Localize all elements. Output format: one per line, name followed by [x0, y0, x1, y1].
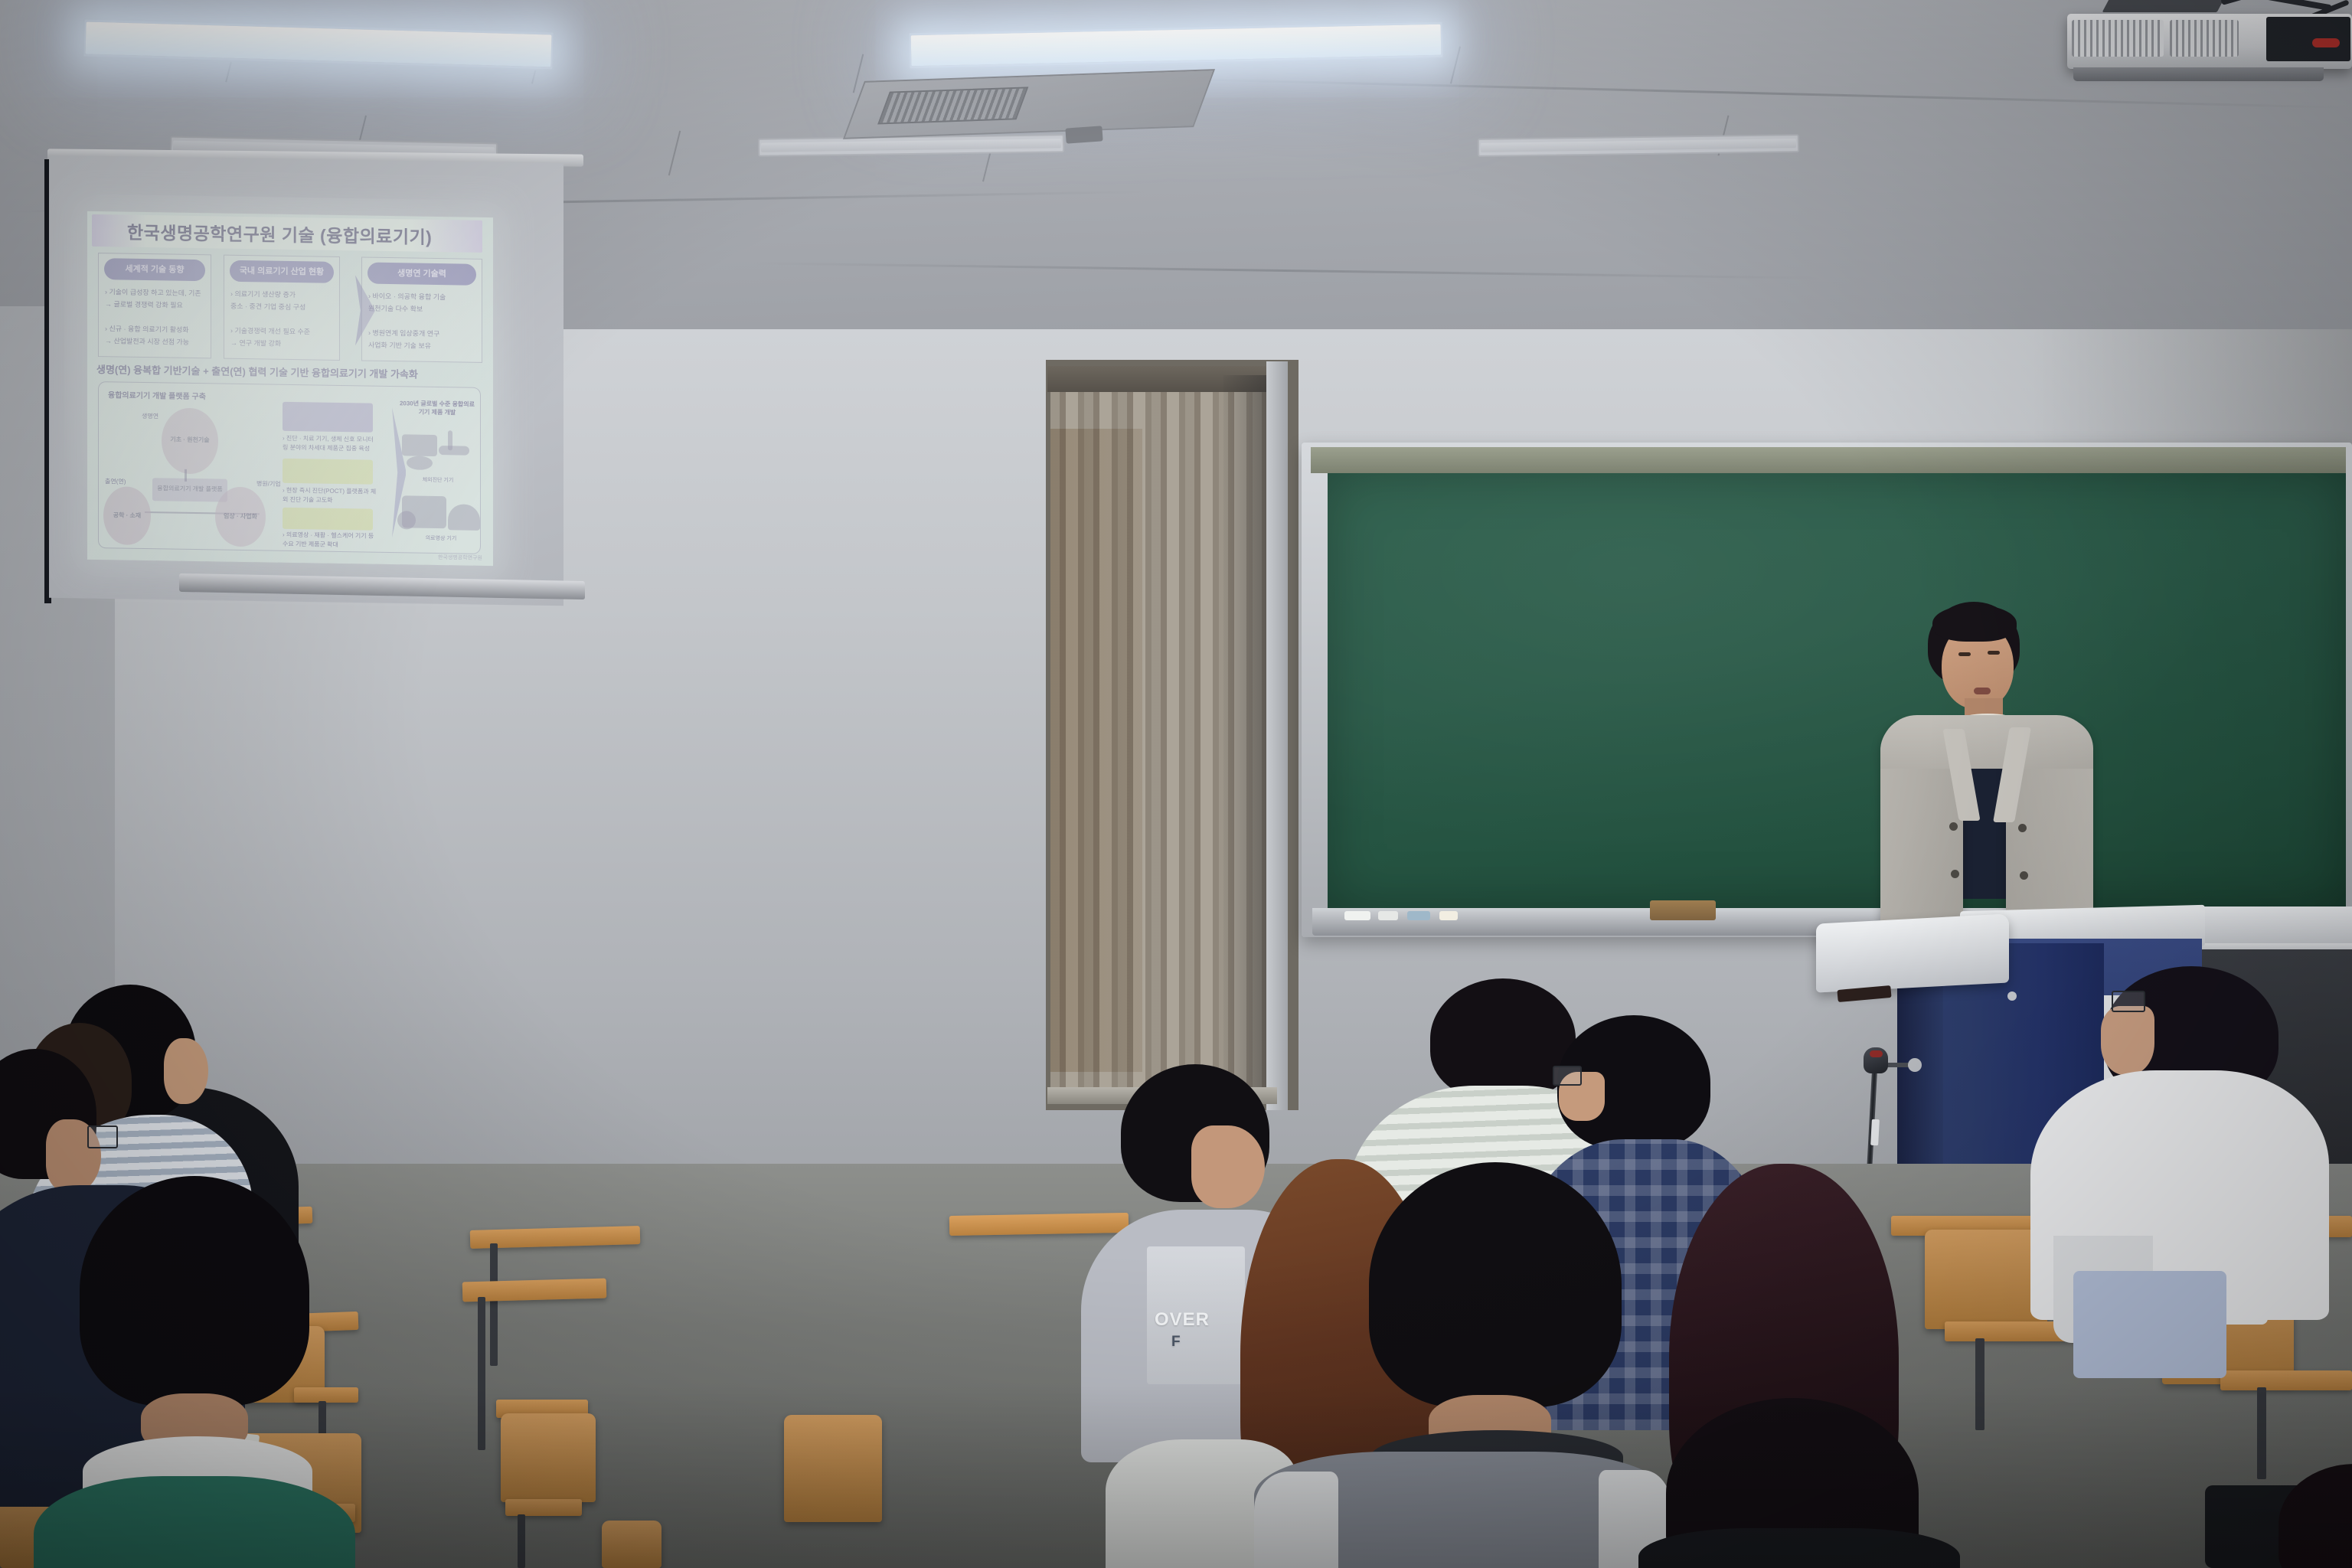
desk-leg: [2257, 1387, 2266, 1479]
presenter-eye-right: [1988, 651, 2000, 655]
mic-adjust-knob[interactable]: [1908, 1058, 1922, 1072]
lectern-reading-surface: [1816, 913, 2009, 992]
vent-damper-icon: [1065, 126, 1102, 143]
desk: [294, 1387, 358, 1403]
chair-back: [784, 1415, 882, 1522]
presenter-mouth: [1974, 688, 1991, 694]
ceiling-projector: [2067, 3, 2352, 87]
slide-box-3-bullet-2: 원천기술 다수 확보: [368, 304, 477, 315]
mic-arm: [1885, 1063, 1911, 1067]
slide-box-1-bullet-2: → 글로벌 경쟁력 강화 필요: [105, 299, 206, 311]
slide-box-3-bullet-4: 사업화 기반 기술 보유: [368, 341, 477, 352]
slide-chip-3-text: › 의료영상 · 재활 · 헬스케어 기기 등 수요 기반 제품군 확대: [283, 531, 379, 550]
chalkboard-top-rail: [1311, 447, 2346, 473]
slide-node-3-role: 임상 · 사업화: [215, 511, 266, 521]
slide-subheading: 생명(연) 융복합 기반기술 + 출연(연) 협력 기술 기반 융합의료기기 개…: [96, 361, 485, 382]
slide-box-3-header: 생명연 기술력: [367, 266, 476, 280]
lectern-far-top: [2194, 906, 2352, 946]
slide-node-2-label: 출연(연): [105, 477, 126, 485]
chalk-piece: [1344, 911, 1370, 920]
slide-box-1-bullet-1: › 기술이 급성장 하고 있는데, 기존: [105, 287, 206, 299]
chalk-piece: [1407, 911, 1430, 920]
desk: [2220, 1370, 2352, 1390]
slide-device-image-4: [439, 446, 469, 456]
chalk-piece: [1439, 911, 1458, 920]
desk-leg: [1975, 1338, 1984, 1430]
shirt-print-line2: F: [1171, 1334, 1181, 1351]
audience-7-hair: [1369, 1162, 1622, 1407]
slide-device-caption-1: 체외진단 기기: [396, 475, 480, 485]
slide-node-1-role: 기초 · 원천기술: [162, 435, 218, 444]
audience-11-glasses-icon: [2112, 991, 2145, 1012]
presenter-fringe: [1932, 605, 2017, 642]
projected-slide: 한국생명공학연구원 기술 (융합의료기기) 세계적 기술 동향 › 기술이 급성…: [87, 211, 493, 566]
slide-node-circle-2: 공학 · 소재: [103, 486, 151, 545]
classroom-photo-scene: 한국생명공학연구원 기술 (융합의료기기) 세계적 기술 동향 › 기술이 급성…: [0, 0, 2352, 1568]
slide-box-3-bullet-3: › 병원연계 임상중개 연구: [368, 328, 477, 340]
presenter-jacket-button: [1949, 822, 1958, 831]
slide-chip-2: [283, 459, 373, 485]
slide-box-2-bullet-2: 중소 · 중견 기업 중심 구성: [230, 302, 335, 313]
audience-7-raglan-sleeve-left: [1254, 1472, 1338, 1568]
desk-leg: [518, 1514, 525, 1568]
slide-node-circle-3: 임상 · 사업화: [215, 486, 266, 547]
audience-11-blue-garment: [2073, 1271, 2226, 1378]
slide-box-1-header-pill: 세계적 기술 동향: [104, 258, 205, 281]
slide-box-2-bullet-3: › 기술경쟁력 개선 필요 수준: [230, 326, 335, 338]
mic-stand-band: [1870, 1119, 1880, 1145]
slide-device-caption-2: 의료영상 기기: [399, 534, 483, 543]
slide-node-2-role: 공학 · 소재: [103, 511, 151, 520]
slide-box-2-bullet-1: › 의료기기 생산량 증가: [230, 289, 335, 301]
slide-diagram-panel: 융합의료기기 개발 플랫폼 구축 기초 · 원천기술 생명연 융합의료기기 개발…: [98, 381, 481, 554]
desk-leg: [478, 1297, 485, 1450]
slide-box-2-header: 국내 의료기기 산업 현황: [230, 264, 334, 278]
chalkboard-sheen: [1328, 473, 2346, 908]
slide-title: 한국생명공학연구원 기술 (융합의료기기): [127, 218, 478, 250]
audience-1-glasses-icon: [87, 1125, 118, 1148]
slide-chip-2-text: › 현장 즉시 진단(POCT) 플랫폼과 체외 진단 기술 고도화: [283, 486, 379, 505]
podium-screw: [2007, 991, 2017, 1001]
presenter-eye-left: [1958, 652, 1971, 656]
slide-chip-1: [283, 402, 373, 433]
projection-screen: 한국생명공학연구원 기술 (융합의료기기) 세계적 기술 동향 › 기술이 급성…: [49, 152, 563, 603]
slide-device-image-7: [448, 504, 480, 531]
audience-4-torso: [34, 1476, 355, 1568]
slide-node-3-label: 병원/기업: [256, 479, 281, 488]
shirt-print-line1: OVER: [1155, 1309, 1210, 1331]
slide-right-column-title: 2030년 글로벌 수준 융합의료기기 제품 개발: [399, 399, 475, 417]
slide-device-image-1: [402, 434, 437, 456]
slide-link-box-label: 융합의료기기 개발 플랫폼: [152, 485, 227, 495]
slide-top-box-1: 세계적 기술 동향 › 기술이 급성장 하고 있는데, 기존 → 글로벌 경쟁력…: [98, 253, 211, 358]
slide-box-2-header-pill: 국내 의료기기 산업 현황: [230, 260, 334, 283]
desk-leg: [490, 1243, 498, 1366]
slide-box-3-bullet-1: › 바이오 · 의공학 융합 기술: [368, 292, 477, 303]
slide-box-2-bullet-4: → 연구 개발 강화: [230, 338, 335, 350]
chair-back: [602, 1521, 661, 1568]
window-frame: [1266, 361, 1288, 1110]
presenter-jacket-button: [1951, 870, 1959, 878]
slide-node-circle-1: 기초 · 원천기술: [162, 407, 218, 474]
desk: [949, 1213, 1129, 1236]
curtain-light-band: [1050, 429, 1142, 1072]
slide-box-1-bullet-3: › 신규 · 융합 의료기기 활성화: [105, 324, 206, 335]
slide-footer-mark: 한국생명공학연구원: [438, 554, 482, 562]
slide-link-box: 융합의료기기 개발 플랫폼: [152, 478, 227, 502]
slide-top-box-2: 국내 의료기기 산업 현황 › 의료기기 생산량 증가 중소 · 중견 기업 중…: [224, 255, 340, 361]
slide-chip-1-text: › 진단 · 치료 기기, 생체 신호 모니터링 분야의 차세대 제품군 집중 …: [283, 434, 379, 453]
slide-top-box-3: 생명연 기술력 › 바이오 · 의공학 융합 기술 원천기술 다수 확보 › 병…: [361, 256, 482, 362]
slide-connector-line: [185, 469, 187, 482]
slide-device-image-6: [397, 511, 416, 529]
chalk-piece: [1378, 911, 1398, 920]
slide-box-1-header: 세계적 기술 동향: [104, 262, 205, 276]
curtain-shadow: [1223, 375, 1271, 1102]
desk: [505, 1499, 582, 1516]
audience-11-face-sliver: [2101, 1006, 2154, 1075]
slide-chip-3: [283, 508, 373, 531]
slide-node-1-label: 생명연: [142, 412, 158, 420]
slide-panel-caption: 융합의료기기 개발 플랫폼 구축: [108, 388, 206, 401]
slide-box-1-bullet-4: → 산업발전과 시장 선점 가능: [105, 336, 206, 348]
slide-box-3-header-pill: 생명연 기술력: [367, 263, 476, 286]
presenter-jacket-button: [2018, 824, 2027, 832]
chair-back: [501, 1413, 596, 1502]
audience-12-torso: [1638, 1528, 1960, 1568]
chalkboard-eraser: [1650, 900, 1716, 920]
presenter-jacket-button: [2020, 871, 2028, 880]
audience-9-glasses-icon: [1553, 1066, 1582, 1086]
audience-3-face-sliver: [164, 1038, 208, 1104]
audience-4-hair: [80, 1176, 309, 1406]
presenter-shoulders: [1880, 715, 2093, 769]
chair-back: [1925, 1230, 2047, 1329]
slide-device-image-2: [407, 456, 433, 470]
audience-5-face-sliver: [1191, 1125, 1265, 1208]
mic-indicator: [1870, 1050, 1883, 1057]
